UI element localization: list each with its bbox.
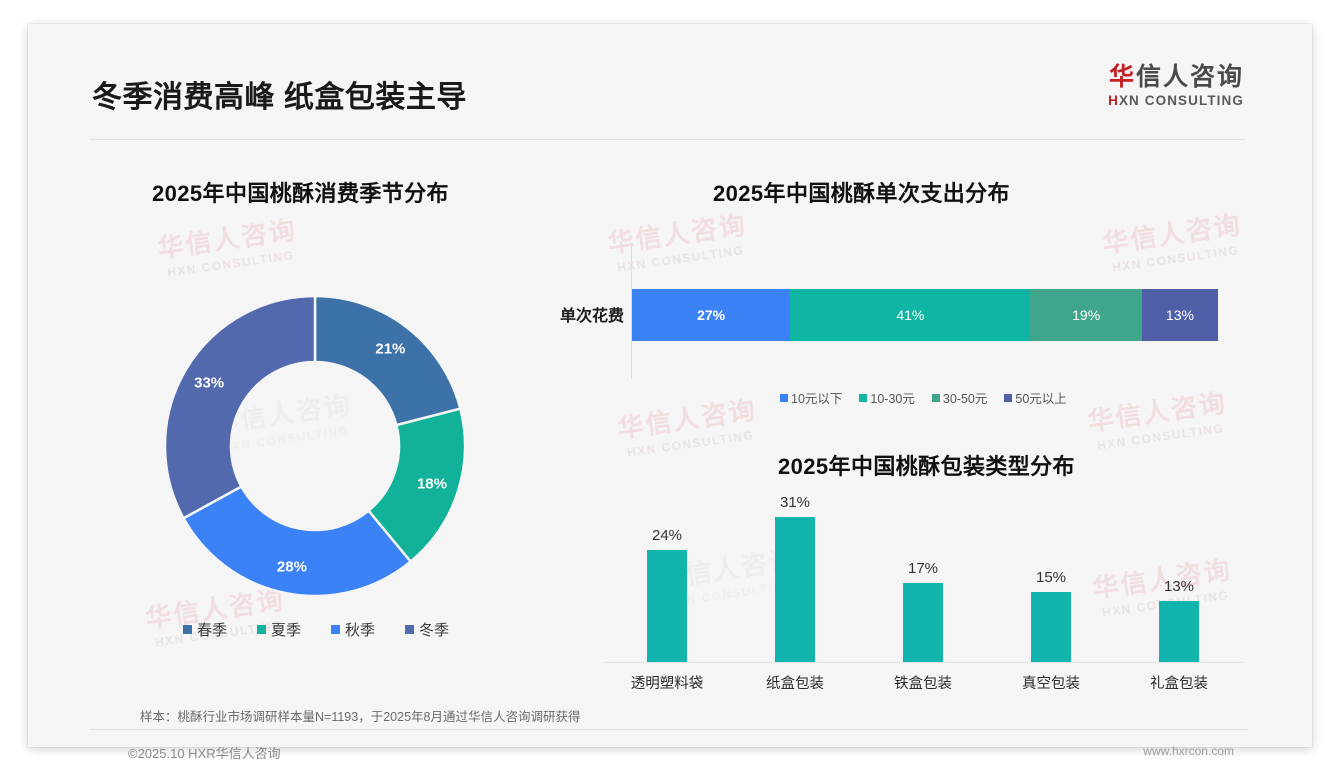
company-logo: 华信人咨询 HXN CONSULTING [1108, 64, 1244, 108]
donut-svg [165, 296, 465, 596]
watermark: 华信人咨询 HXN CONSULTING [155, 210, 301, 281]
donut-legend-item[interactable]: 冬季 [405, 619, 449, 640]
stacked-legend-label: 10-30元 [870, 388, 914, 407]
bar-category-label: 透明塑料袋 [603, 672, 731, 693]
stacked-segment-10-30元[interactable]: 41% [790, 289, 1030, 341]
legend-swatch-icon [932, 394, 940, 402]
watermark-en: HXN CONSULTING [1096, 420, 1231, 453]
bar-value-label: 17% [908, 560, 938, 577]
legend-swatch-icon [1004, 394, 1012, 402]
stacked-segment-50元以上[interactable]: 13% [1142, 289, 1218, 341]
watermark: 华信人咨询 HXN CONSULTING [615, 390, 761, 461]
legend-swatch-icon [183, 625, 192, 634]
bar-value-label: 31% [780, 494, 810, 511]
bar-chart-baseline [603, 662, 1243, 663]
bar-column: 15% [987, 494, 1115, 662]
page-title: 冬季消费高峰 纸盒包装主导 [92, 72, 467, 116]
bar-category-label: 铁盒包装 [859, 672, 987, 693]
donut-slice-冬季[interactable] [165, 296, 315, 518]
stacked-legend-label: 30-50元 [943, 388, 987, 407]
bar-group: 15%真空包装 [987, 494, 1115, 662]
logo-cn-accent: 华 [1109, 63, 1136, 91]
donut-legend-label: 秋季 [345, 619, 375, 640]
bar-rect-透明塑料袋[interactable] [647, 550, 687, 662]
watermark: 华信人咨询 HXN CONSULTING [1085, 383, 1231, 454]
stacked-legend-label: 10元以下 [791, 388, 842, 407]
stacked-segment-30-50元[interactable]: 19% [1030, 289, 1141, 341]
donut-value-label: 33% [194, 375, 224, 392]
stacked-legend-item[interactable]: 10元以下 [780, 388, 842, 407]
watermark-en: HXN CONSULTING [166, 247, 301, 280]
website-url: www.hxrcon.com [1143, 744, 1234, 758]
bar-rect-纸盒包装[interactable] [775, 517, 815, 662]
donut-slice-春季[interactable] [315, 296, 460, 425]
copyright-text: ©2025.10 HXR华信人咨询 [128, 743, 281, 762]
footer-divider [90, 729, 1248, 730]
donut-legend-label: 夏季 [271, 619, 301, 640]
logo-en-accent: H [1108, 93, 1119, 108]
bar-value-label: 13% [1164, 578, 1194, 595]
logo-chinese-text: 华信人咨询 [1108, 64, 1244, 90]
bar-rect-铁盒包装[interactable] [903, 583, 943, 662]
bar-category-label: 纸盒包装 [731, 672, 859, 693]
legend-swatch-icon [331, 625, 340, 634]
bar-group: 24%透明塑料袋 [603, 494, 731, 662]
stacked-bar-track: 27%41%19%13% [632, 289, 1218, 341]
logo-english-text: HXN CONSULTING [1108, 93, 1244, 108]
sample-note: 样本：桃酥行业市场调研样本量N=1193，于2025年8月通过华信人咨询调研获得 [140, 706, 580, 725]
donut-legend-label: 春季 [197, 619, 227, 640]
header-divider [90, 139, 1245, 140]
stacked-legend-item[interactable]: 10-30元 [859, 388, 914, 407]
logo-en-rest: XN CONSULTING [1119, 93, 1244, 108]
stacked-legend-item[interactable]: 50元以上 [1004, 388, 1066, 407]
bar-column: 24% [603, 494, 731, 662]
bar-rect-礼盒包装[interactable] [1159, 601, 1199, 662]
legend-swatch-icon [405, 625, 414, 634]
bar-group: 17%铁盒包装 [859, 494, 987, 662]
bar-chart-plot-area: 24%透明塑料袋31%纸盒包装17%铁盒包装15%真空包装13%礼盒包装 [603, 494, 1243, 662]
bar-column: 31% [731, 494, 859, 662]
legend-swatch-icon [257, 625, 266, 634]
logo-cn-rest: 信人咨询 [1136, 63, 1244, 91]
donut-legend-item[interactable]: 春季 [183, 619, 227, 640]
slide-header: 冬季消费高峰 纸盒包装主导 华信人咨询 HXN CONSULTING [28, 24, 1312, 122]
stacked-legend-label: 50元以上 [1015, 388, 1066, 407]
donut-value-label: 21% [375, 340, 405, 357]
bar-group: 13%礼盒包装 [1115, 494, 1243, 662]
donut-legend-label: 冬季 [419, 619, 449, 640]
bar-category-label: 真空包装 [987, 672, 1115, 693]
packaging-bar-chart: 24%透明塑料袋31%纸盒包装17%铁盒包装15%真空包装13%礼盒包装 [603, 494, 1243, 709]
bar-group: 31%纸盒包装 [731, 494, 859, 662]
stacked-category-label: 单次花费 [528, 302, 624, 326]
donut-legend-item[interactable]: 秋季 [331, 619, 375, 640]
watermark-en: HXN CONSULTING [626, 427, 761, 460]
stacked-segment-10元以下[interactable]: 27% [632, 289, 790, 341]
season-donut-chart: 21%18%28%33% [165, 296, 465, 596]
bar-rect-真空包装[interactable] [1031, 592, 1071, 662]
bar-chart-title: 2025年中国桃酥包装类型分布 [778, 449, 1075, 481]
watermark-cn: 华信人咨询 [155, 210, 299, 266]
watermark-cn: 华信人咨询 [1085, 383, 1229, 439]
legend-swatch-icon [780, 394, 788, 402]
watermark-cn: 华信人咨询 [615, 390, 759, 446]
bar-value-label: 15% [1036, 569, 1066, 586]
slide-canvas: 冬季消费高峰 纸盒包装主导 华信人咨询 HXN CONSULTING 华信人咨询… [28, 24, 1312, 747]
donut-chart-title: 2025年中国桃酥消费季节分布 [152, 176, 449, 208]
bar-value-label: 24% [652, 527, 682, 544]
spend-stacked-chart: 单次花费 27%41%19%13% [518, 234, 1248, 379]
stacked-chart-legend: 10元以下10-30元30-50元50元以上 [780, 388, 1067, 407]
donut-legend-item[interactable]: 夏季 [257, 619, 301, 640]
bar-column: 13% [1115, 494, 1243, 662]
donut-chart-legend: 春季夏季秋季冬季 [183, 619, 449, 640]
stacked-chart-title: 2025年中国桃酥单次支出分布 [713, 176, 1010, 208]
donut-value-label: 18% [417, 476, 447, 493]
bar-category-label: 礼盒包装 [1115, 672, 1243, 693]
legend-swatch-icon [859, 394, 867, 402]
stacked-legend-item[interactable]: 30-50元 [932, 388, 987, 407]
bar-column: 17% [859, 494, 987, 662]
donut-value-label: 28% [277, 558, 307, 575]
